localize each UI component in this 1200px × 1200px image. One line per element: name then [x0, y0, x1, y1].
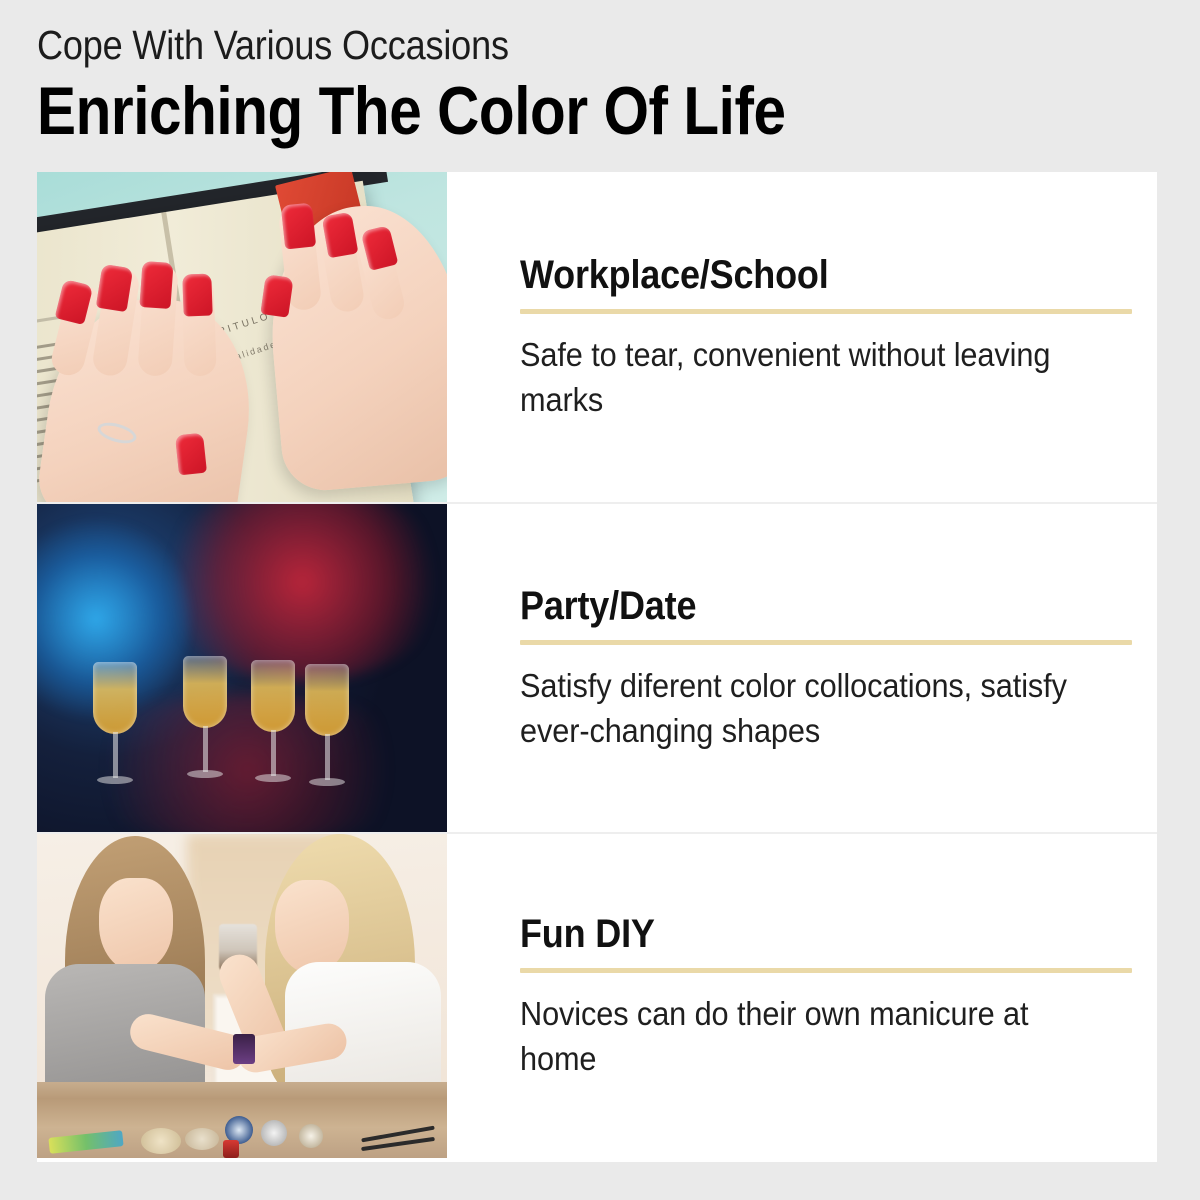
feature-row: CAPITULO II Generalidades: [37, 172, 1157, 502]
feature-content: Workplace/School Safe to tear, convenien…: [447, 172, 1187, 502]
photo-party-toast: [37, 504, 447, 832]
feature-content: Party/Date Satisfy diferent color colloc…: [447, 504, 1187, 832]
title-underline-rule: [520, 968, 1132, 973]
eyebrow-text: Cope With Various Occasions: [37, 22, 1023, 68]
champagne-glass: [93, 662, 137, 734]
champagne-glass: [305, 664, 349, 736]
feature-title: Party/Date: [520, 584, 1071, 628]
supply-item: [261, 1120, 287, 1146]
promo-page: Cope With Various Occasions Enriching Th…: [0, 0, 1200, 1200]
supply-item: [299, 1124, 323, 1148]
nail-brushes: [361, 1128, 437, 1154]
feature-description: Satisfy diferent color collocations, sat…: [520, 663, 1078, 753]
feature-card-list: CAPITULO II Generalidades: [37, 172, 1157, 1162]
feature-row: Fun DIY Novices can do their own manicur…: [37, 832, 1157, 1158]
page-title: Enriching The Color Of Life: [37, 74, 1000, 148]
photo-diy-manicure: [37, 834, 447, 1158]
supply-item: [141, 1128, 181, 1154]
feature-title: Fun DIY: [520, 912, 1071, 956]
feature-image-fun-diy: [37, 834, 447, 1158]
feature-row: Party/Date Satisfy diferent color colloc…: [37, 502, 1157, 832]
nail-polish-bottle: [233, 1034, 255, 1064]
feature-image-party-date: [37, 504, 447, 832]
feature-image-workplace-school: CAPITULO II Generalidades: [37, 172, 447, 502]
title-underline-rule: [520, 309, 1132, 314]
page-header: Cope With Various Occasions Enriching Th…: [37, 22, 1157, 148]
feature-content: Fun DIY Novices can do their own manicur…: [447, 834, 1187, 1158]
supply-item: [185, 1128, 219, 1150]
feature-description: Safe to tear, convenient without leaving…: [520, 332, 1078, 422]
feature-title: Workplace/School: [520, 253, 1071, 297]
champagne-glass: [183, 656, 227, 728]
title-underline-rule: [520, 640, 1132, 645]
champagne-glass: [251, 660, 295, 732]
feature-description: Novices can do their own manicure at hom…: [520, 991, 1078, 1081]
photo-hand-on-book: CAPITULO II Generalidades: [37, 172, 447, 502]
supply-item: [223, 1140, 239, 1158]
